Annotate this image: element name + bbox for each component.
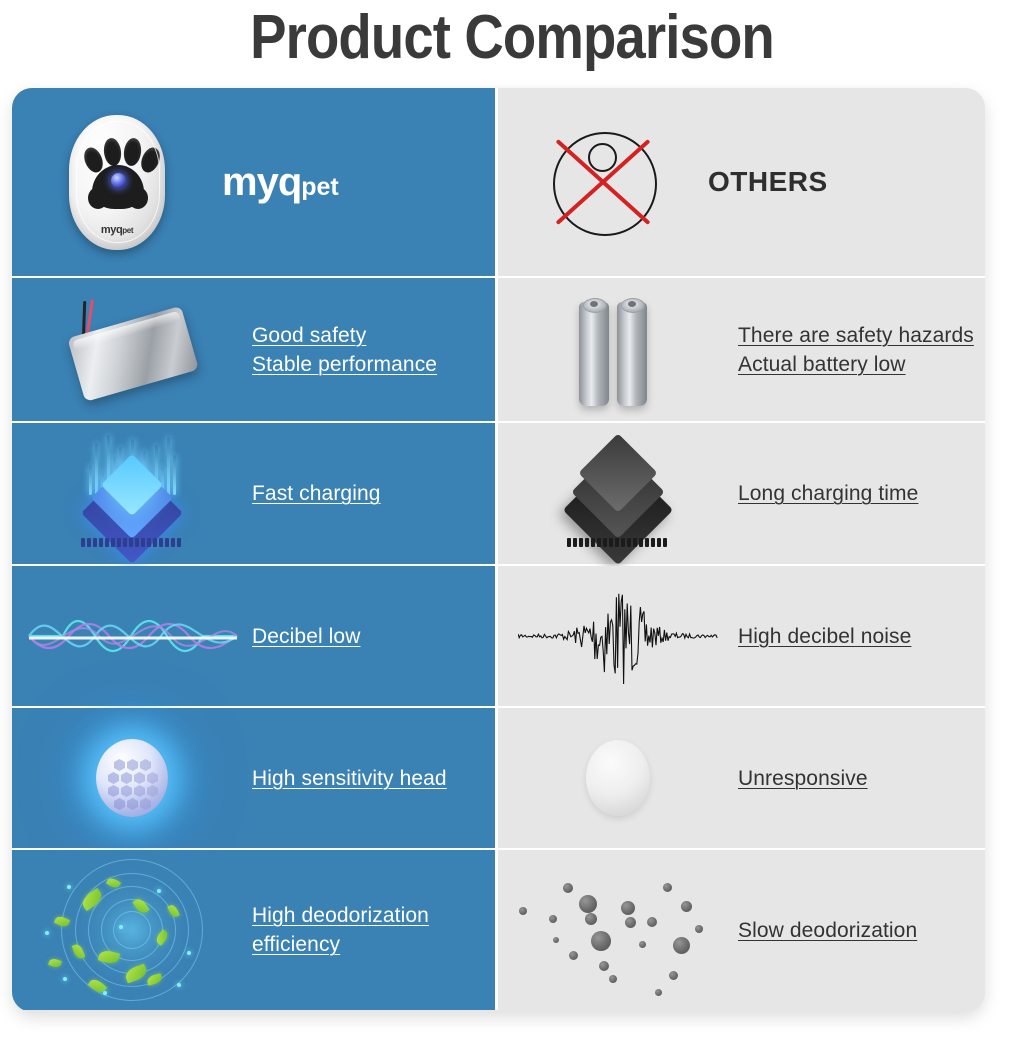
row-sensitivity-left-label: High sensitivity head [252,764,447,793]
row-charging-right-label: Long charging time [738,479,918,508]
row-battery-left: Good safety Stable performance [12,278,498,423]
table-row: High sensitivity head Unresponsive [12,708,985,850]
comparison-table: myqpet myqpet OTHERS [12,88,985,1012]
others-label: OTHERS [708,166,828,198]
row-sensitivity-left: High sensitivity head [12,708,498,850]
table-row: Fast charging Long charging time [12,423,985,566]
glowing-sensor-sphere-icon [12,739,252,817]
row-battery-right-label: There are safety hazards Actual battery … [738,321,974,379]
row-deodorization-right: Slow deodorization [498,850,985,1010]
paw-remote-device-icon: myqpet [12,115,222,250]
dark-chip-icon [498,435,738,553]
green-leaves-deodorize-icon [12,855,252,1005]
header-cell-others: OTHERS [498,88,985,278]
device-brand-suffix: pet [122,226,133,235]
device-brand-main: myq [101,224,122,236]
noisy-waveform-icon [498,582,738,690]
glowing-blue-chip-icon [12,435,252,553]
page-title: Product Comparison [61,2,962,74]
smooth-sound-wave-icon [12,590,252,682]
blue-gem-icon [111,173,126,188]
aa-batteries-icon [498,294,738,406]
row-deodorization-left-label: High deodorization efficiency [252,901,429,959]
table-row-header: myqpet myqpet OTHERS [12,88,985,278]
row-sensitivity-right-label: Unresponsive [738,764,868,793]
table-row: High deodorization efficiency Slow deodo… [12,850,985,1010]
row-deodorization-right-label: Slow deodorization [738,916,917,945]
row-decibel-left: Decibel low [12,566,498,708]
row-decibel-right: High decibel noise [498,566,985,708]
row-decibel-right-label: High decibel noise [738,622,911,651]
dull-sphere-icon [498,740,738,816]
row-battery-left-label: Good safety Stable performance [252,321,437,379]
row-deodorization-left: High deodorization efficiency [12,850,498,1010]
table-row: Good safety Stable performance There are… [12,278,985,423]
brand-logo: myqpet [222,160,339,205]
row-battery-right: There are safety hazards Actual battery … [498,278,985,423]
brand-logo-suffix: pet [301,173,339,201]
table-row: Decibel low High decibel noise [12,566,985,708]
brand-logo-main: myq [222,160,301,204]
lithium-polymer-battery-icon [12,311,252,389]
row-charging-left-label: Fast charging [252,479,381,508]
crossed-out-circle-icon [498,123,708,241]
row-decibel-left-label: Decibel low [252,622,360,651]
header-cell-myapet: myqpet myqpet [12,88,498,278]
germ-particles-icon [498,871,738,989]
row-charging-left: Fast charging [12,423,498,566]
row-charging-right: Long charging time [498,423,985,566]
row-sensitivity-right: Unresponsive [498,708,985,850]
